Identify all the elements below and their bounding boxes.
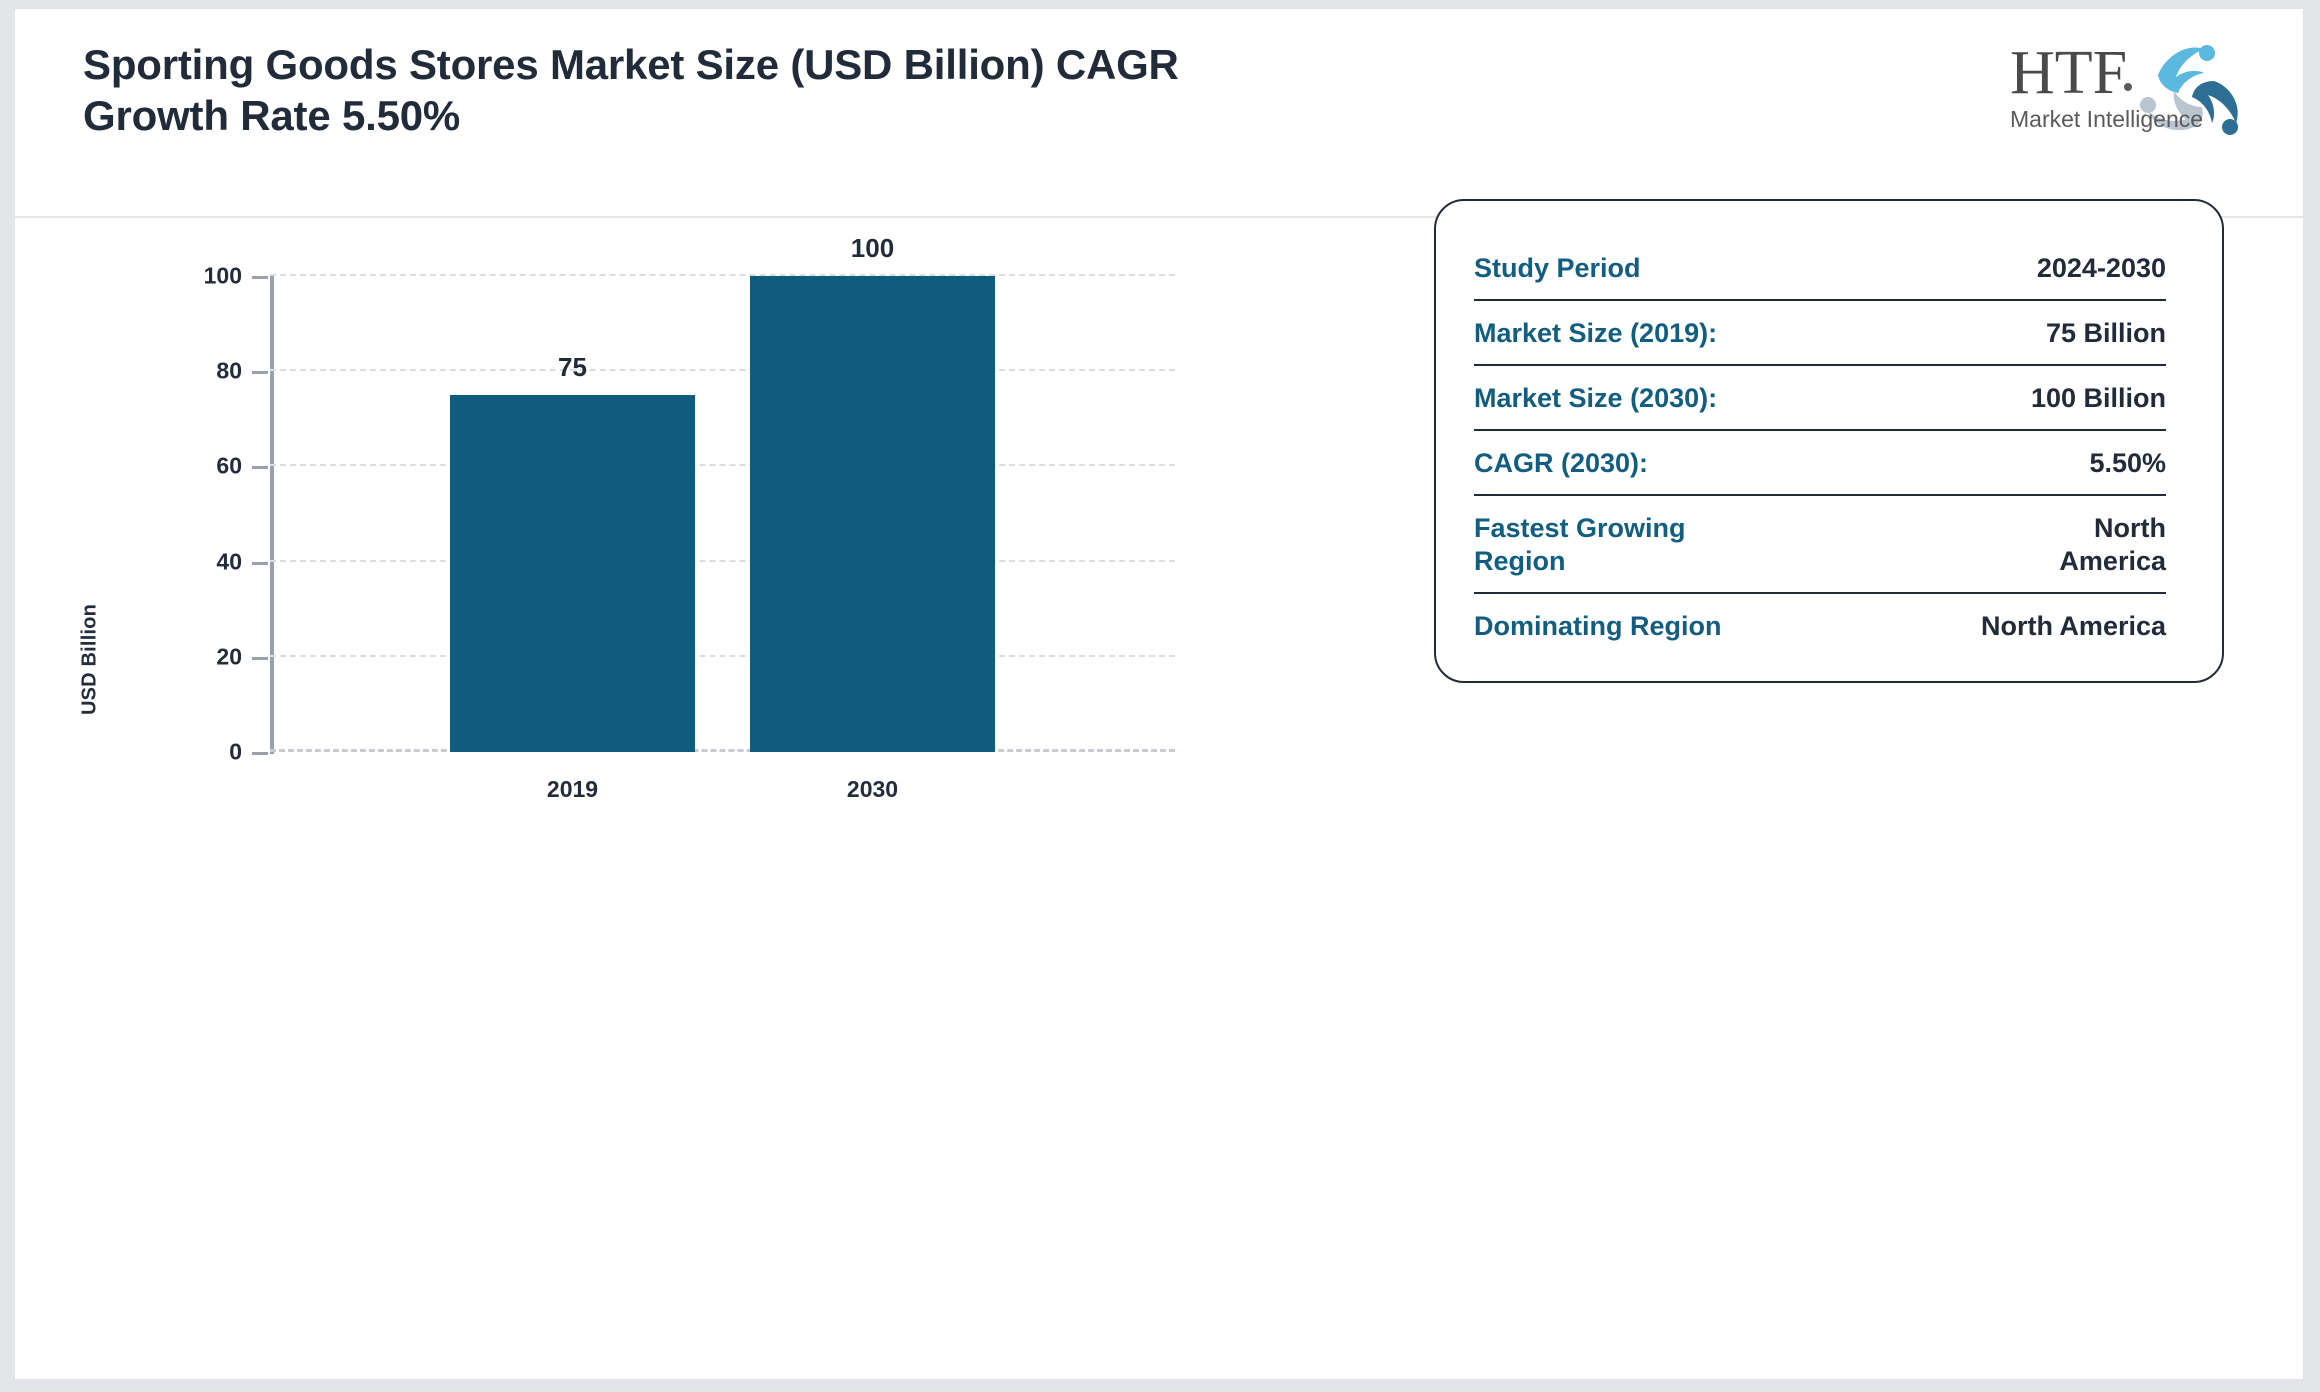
tick-mark-40 [252, 562, 268, 565]
row-label: Study Period [1474, 252, 1641, 285]
y-tick-label-100: 100 [204, 263, 242, 290]
row-label: Market Size (2030): [1474, 382, 1717, 415]
logo-tagline-text: Market Intelligence [2010, 106, 2203, 132]
logo-wordmark-text: HTF [2010, 39, 2127, 107]
gridline-80: 80 [270, 369, 1175, 371]
bar-value-2030: 100 [851, 233, 894, 264]
tick-mark-80 [252, 371, 268, 374]
row-value: 100 Billion [2031, 382, 2166, 415]
y-tick-label-20: 20 [216, 643, 242, 670]
y-tick-label-0: 0 [229, 739, 242, 766]
tick-mark-0 [252, 752, 268, 755]
y-tick-label-60: 60 [216, 453, 242, 480]
row-label: Market Size (2019): [1474, 317, 1717, 350]
header: Sporting Goods Stores Market Size (USD B… [15, 9, 2303, 218]
gridline-0: 0 [270, 749, 1175, 752]
row-label: Fastest Growing Region [1474, 512, 1714, 578]
bar-2019[interactable]: 75 2019 [450, 395, 695, 752]
table-row-cagr-2030: CAGR (2030): 5.50% [1474, 431, 2166, 496]
market-summary-card: Study Period 2024-2030 Market Size (2019… [1434, 199, 2224, 683]
market-summary-rows: Study Period 2024-2030 Market Size (2019… [1474, 247, 2166, 647]
row-value: 5.50% [2089, 447, 2166, 480]
page-card: Sporting Goods Stores Market Size (USD B… [14, 8, 2304, 1380]
table-row-study-period: Study Period 2024-2030 [1474, 247, 2166, 301]
tick-mark-20 [252, 657, 268, 660]
gridline-100: 100 [270, 274, 1175, 276]
row-label: CAGR (2030): [1474, 447, 1648, 480]
page-title: Sporting Goods Stores Market Size (USD B… [83, 39, 1283, 141]
tick-mark-100 [252, 276, 268, 279]
y-tick-label-40: 40 [216, 548, 242, 575]
gridline-60: 60 [270, 464, 1175, 466]
y-axis-title: USD Billion [79, 530, 102, 790]
row-value: 75 Billion [2046, 317, 2166, 350]
logo-dot [2124, 83, 2132, 91]
table-row-market-size-2019: Market Size (2019): 75 Billion [1474, 301, 2166, 366]
bar-2030[interactable]: 100 2030 [750, 276, 995, 752]
gridline-40: 40 [270, 560, 1175, 562]
htf-market-intelligence-logo: HTF Market Intelligence [2008, 31, 2258, 141]
table-row-fastest-growing-region: Fastest Growing Region North America [1474, 496, 2166, 594]
table-row-market-size-2030: Market Size (2030): 100 Billion [1474, 366, 2166, 431]
gridline-20: 20 [270, 655, 1175, 657]
table-row-dominating-region: Dominating Region North America [1474, 594, 2166, 647]
plot-area: 0 20 40 60 80 100 [270, 276, 1175, 752]
tick-mark-60 [252, 466, 268, 469]
row-value: 2024-2030 [2037, 252, 2166, 285]
x-tick-label-2019: 2019 [547, 776, 598, 803]
x-tick-label-2030: 2030 [847, 776, 898, 803]
bar-value-2019: 75 [558, 352, 587, 383]
bar-chart: USD Billion 0 20 40 60 80 [15, 218, 1315, 1379]
row-value: North America [2036, 512, 2166, 578]
row-value: North America [1981, 610, 2166, 643]
y-tick-label-80: 80 [216, 358, 242, 385]
row-label: Dominating Region [1474, 610, 1721, 643]
